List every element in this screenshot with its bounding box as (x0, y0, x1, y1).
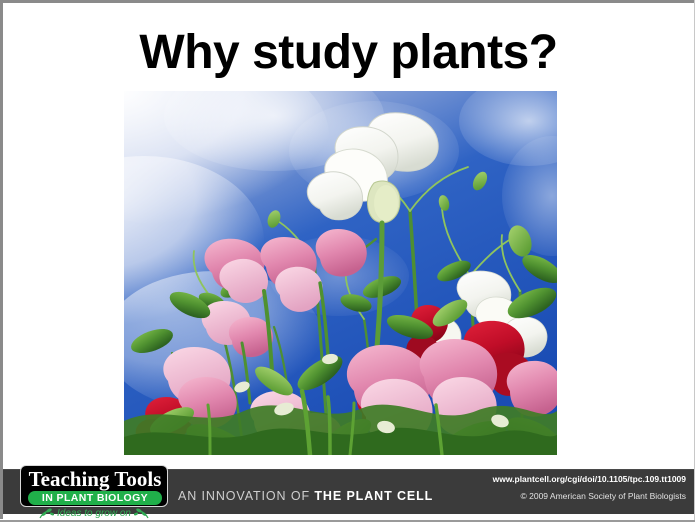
innovation-prefix: AN INNOVATION OF (178, 489, 314, 503)
logo-subtitle: IN PLANT BIOLOGY (28, 491, 162, 505)
logo-tagline-text: Ideas to grow on (57, 508, 131, 519)
logo-tagline-row: Ideas to grow on (20, 507, 168, 521)
sprout-left-icon (38, 508, 54, 519)
sweet-pea-photo-image (124, 91, 557, 455)
logo-plate: Teaching Tools IN PLANT BIOLOGY (20, 465, 168, 507)
doi-url-link[interactable]: www.plantcell.org/cgi/doi/10.1105/tpc.10… (386, 473, 686, 486)
logo-title: Teaching Tools (21, 467, 169, 491)
footer-credits: www.plantcell.org/cgi/doi/10.1105/tpc.10… (386, 473, 686, 503)
slide-content-area: Why study plants? (3, 3, 694, 519)
copyright-notice: © 2009 American Society of Plant Biologi… (386, 490, 686, 503)
page-title: Why study plants? (3, 25, 694, 81)
logo-pill: IN PLANT BIOLOGY (28, 491, 162, 505)
presentation-slide: Why study plants? (0, 0, 695, 522)
sprout-right-icon (134, 508, 150, 519)
teaching-tools-logo[interactable]: Teaching Tools IN PLANT BIOLOGY Ideas to… (20, 465, 168, 521)
sweet-pea-photo (124, 91, 557, 455)
